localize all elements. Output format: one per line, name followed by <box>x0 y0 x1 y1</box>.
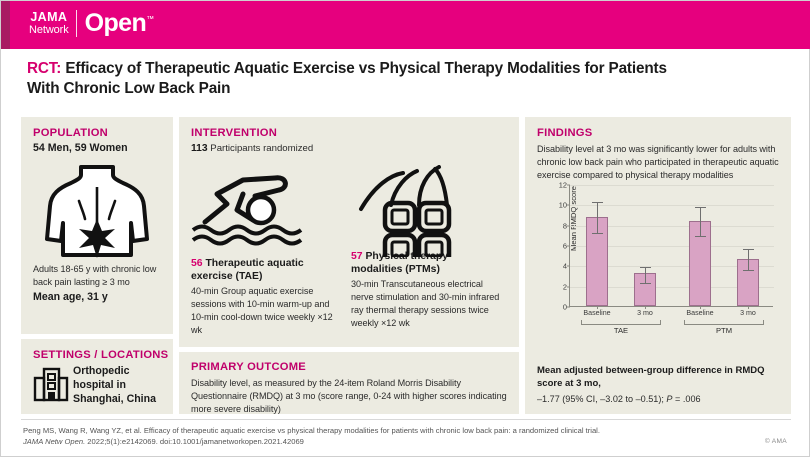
population-mean-age: Mean age, 31 y <box>33 291 108 305</box>
chart-gridline <box>570 185 774 186</box>
chart-y-tickmark <box>567 246 570 247</box>
intervention-arm-tae: 56 Therapeutic aquatic exercise (TAE) 40… <box>191 172 341 337</box>
chart-error-cap <box>695 236 706 237</box>
citation-line-1: Peng MS, Wang R, Wang YZ, et al. Efficac… <box>23 426 600 435</box>
population-count: 54 Men, 59 Women <box>33 142 128 156</box>
settings-locations-panel: SETTINGS / LOCATIONS Orthopedic hospital… <box>21 339 173 414</box>
chart-y-tick-label: 12 <box>559 181 567 190</box>
arm-ptm-description: 30-min Transcutaneous electrical nerve s… <box>351 278 501 330</box>
arm-tae-title: 56 Therapeutic aquatic exercise (TAE) <box>191 257 341 283</box>
hospital-building-icon <box>33 366 69 407</box>
chart-group-bracket <box>684 320 764 325</box>
population-note: Adults 18-65 y with chronic low back pai… <box>33 263 165 289</box>
chart-y-tickmark <box>567 286 570 287</box>
arm-tae-title-text: Therapeutic aquatic exercise (TAE) <box>191 258 304 282</box>
chart-y-tick-label: 6 <box>563 242 567 251</box>
primary-outcome-heading: PRIMARY OUTCOME <box>191 361 306 373</box>
chart-x-tick-label: Baseline <box>583 309 610 317</box>
findings-heading: FINDINGS <box>537 127 592 139</box>
brand-header: JAMA Network Open™ <box>1 1 810 49</box>
footer-divider <box>21 419 791 420</box>
jama-network-open-logo: JAMA Network Open™ <box>29 10 154 37</box>
chart-error-cap <box>592 233 603 234</box>
randomized-count: 113 <box>191 143 208 154</box>
chart-error-cap <box>640 267 651 268</box>
settings-heading: SETTINGS / LOCATIONS <box>33 349 168 361</box>
chart-y-tick-label: 8 <box>563 221 567 230</box>
page-title: RCT: Efficacy of Therapeutic Aquatic Exe… <box>27 59 767 99</box>
chart-error-cap <box>743 249 754 250</box>
chart-y-tick-label: 0 <box>563 303 567 312</box>
tens-electrodes-icon <box>351 165 501 250</box>
chart-plot-area: Mean RMDQ score 024681012Baseline3 moBas… <box>569 185 773 307</box>
chart-error-cap <box>592 202 603 203</box>
logo-divider <box>76 10 77 37</box>
title-line-1: RCT: Efficacy of Therapeutic Aquatic Exe… <box>27 59 767 79</box>
conclusion-bold: Mean adjusted between-group difference i… <box>537 365 785 391</box>
copyright-label: © AMA <box>765 438 787 445</box>
conclusion-statistic: –1.77 (95% CI, –3.02 to –0.51); P = .006 <box>537 393 785 405</box>
intervention-arm-ptm: 57 Physical therapy modalities (PTMs) 30… <box>351 165 501 330</box>
randomized-count-line: 113 Participants randomized <box>191 143 313 154</box>
chart-y-tickmark <box>567 185 570 186</box>
conclusion-block: Mean adjusted between-group difference i… <box>537 365 785 405</box>
population-heading: POPULATION <box>33 127 108 139</box>
chart-group-label: PTM <box>716 326 732 335</box>
conclusion-stat-pre: –1.77 (95% CI, –3.02 to –0.51); <box>537 394 666 404</box>
chart-x-tick-label: Baseline <box>686 309 713 317</box>
chart-group-bracket <box>581 320 661 325</box>
citation-journal: JAMA Netw Open. <box>23 437 85 446</box>
logo-jama-text: JAMA <box>29 11 69 24</box>
chart-error-cap <box>743 270 754 271</box>
title-text-1: Efficacy of Therapeutic Aquatic Exercise… <box>65 60 666 77</box>
logo-open-wrap: Open™ <box>77 11 154 36</box>
trademark-icon: ™ <box>146 15 153 24</box>
conclusion-stat-post: = .006 <box>673 394 701 404</box>
citation-line-2: 2022;5(1):e2142069. doi:10.1001/jamanetw… <box>85 437 304 446</box>
rmdq-bar-chart: Mean RMDQ score 024681012Baseline3 moBas… <box>535 179 781 359</box>
chart-group-label: TAE <box>614 326 628 335</box>
chart-error-cap <box>640 283 651 284</box>
chart-x-tick-label: 3 mo <box>637 309 653 317</box>
chart-error-cap <box>695 207 706 208</box>
intervention-panel: INTERVENTION 113 Participants randomized… <box>179 117 519 347</box>
intervention-heading: INTERVENTION <box>191 127 277 139</box>
chart-y-tick-label: 2 <box>563 282 567 291</box>
chart-error-bar <box>748 249 749 270</box>
arm-tae-description: 40-min Group aquatic exercise sessions w… <box>191 285 341 337</box>
chart-error-bar <box>700 207 701 236</box>
chart-canvas: Mean RMDQ score 024681012Baseline3 moBas… <box>535 179 781 359</box>
title-line-2: With Chronic Low Back Pain <box>27 79 767 99</box>
logo-open-text: Open <box>85 9 147 37</box>
chart-y-tickmark <box>567 307 570 308</box>
chart-error-bar <box>597 202 598 233</box>
logo-network-text: Network <box>29 25 69 36</box>
arm-tae-n: 56 <box>191 258 203 269</box>
chart-y-tickmark <box>567 225 570 226</box>
findings-panel: FINDINGS Disability level at 3 mo was si… <box>525 117 791 414</box>
chart-y-tick-label: 4 <box>563 262 567 271</box>
rct-label: RCT: <box>27 60 61 77</box>
findings-text: Disability level at 3 mo was significant… <box>537 143 781 182</box>
settings-text: Orthopedic hospital in Shanghai, China <box>73 365 168 406</box>
chart-y-axis-label: Mean RMDQ score <box>569 186 578 251</box>
primary-outcome-panel: PRIMARY OUTCOME Disability level, as mea… <box>179 352 519 414</box>
chart-y-tickmark <box>567 266 570 267</box>
back-pain-torso-icon <box>41 161 153 266</box>
primary-outcome-text: Disability level, as measured by the 24-… <box>191 377 509 416</box>
swimmer-icon <box>191 172 341 257</box>
chart-y-tickmark <box>567 205 570 206</box>
randomized-label: Participants randomized <box>210 143 313 154</box>
logo-jama-network: JAMA Network <box>29 11 76 36</box>
chart-error-bar <box>645 267 646 283</box>
header-edge-accent <box>1 1 10 49</box>
chart-gridline <box>570 205 774 206</box>
chart-y-tick-label: 10 <box>559 201 567 210</box>
visual-abstract-page: JAMA Network Open™ RCT: Efficacy of Ther… <box>0 0 810 457</box>
population-panel: POPULATION 54 Men, 59 Women Adults 18-65… <box>21 117 173 334</box>
citation: Peng MS, Wang R, Wang YZ, et al. Efficac… <box>23 425 723 448</box>
chart-x-tick-label: 3 mo <box>740 309 756 317</box>
